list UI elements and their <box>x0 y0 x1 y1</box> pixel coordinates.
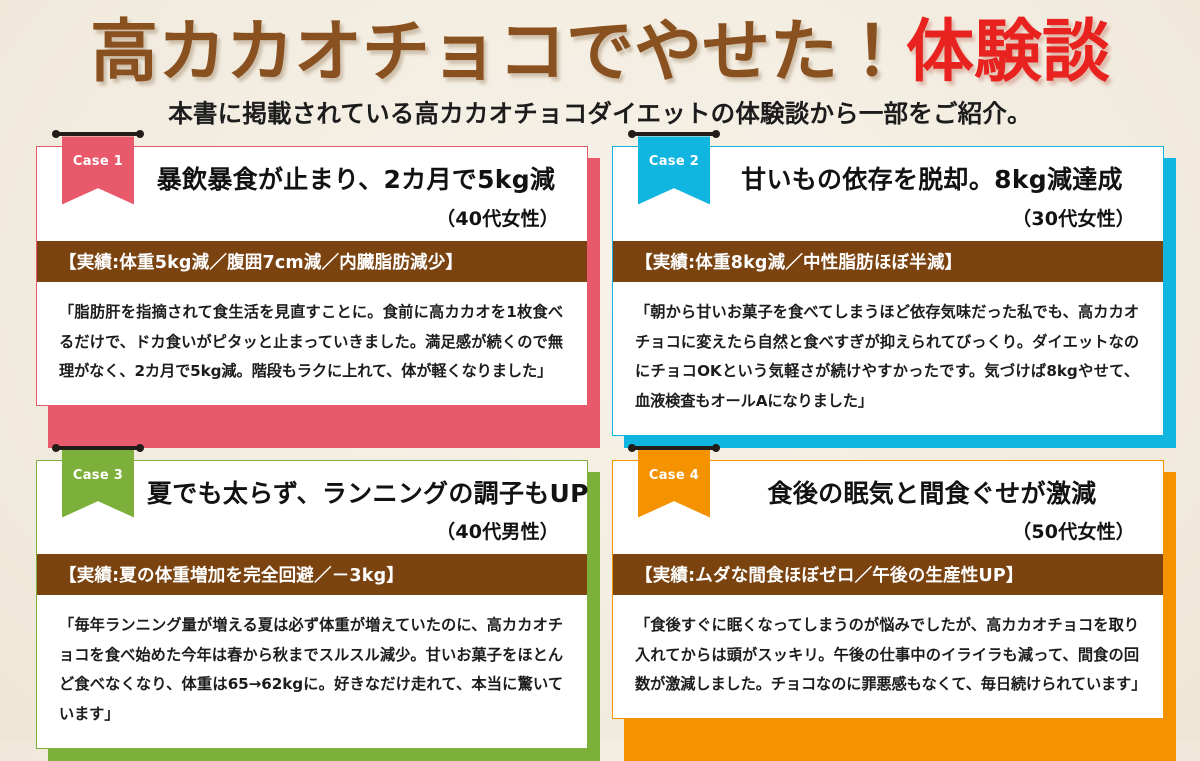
case-title: 暴飲暴食が止まり、2カ月で5kg減 <box>147 165 565 196</box>
card-body-2: 「朝から甘いお菓子を食べてしまうほど依存気味だった私でも、高カカオチョコに変えた… <box>613 282 1163 435</box>
case-person: （40代男性） <box>147 517 565 544</box>
ribbon-label: Case 3 <box>73 468 123 483</box>
ribbon-rod-icon <box>55 446 141 450</box>
ribbon-2: Case 2 <box>638 132 710 204</box>
ribbon-rod-icon <box>631 446 717 450</box>
ribbon-label: Case 1 <box>73 154 123 169</box>
achievement-bar: 【実績:体重8kg減／中性脂肪ほぼ半減】 <box>613 241 1163 282</box>
achievement-bar: 【実績:体重5kg減／腹囲7cm減／内臓脂肪減少】 <box>37 241 587 282</box>
ribbon-banner-icon: Case 4 <box>638 450 710 518</box>
case-card-2: Case 2 甘いもの依存を脱却。8kg減達成 （30代女性） 【実績:体重8k… <box>612 146 1164 435</box>
ribbon-4: Case 4 <box>638 446 710 518</box>
page-title-main: 高カカオチョコでやせた！ <box>90 13 906 92</box>
page-title: 高カカオチョコでやせた！体験談 <box>0 16 1200 89</box>
case-quote: 「毎年ランニング量が増える夏は必ず体重が増えていたのに、高カカオチョコを食べ始め… <box>59 611 563 730</box>
ribbon-banner-icon: Case 2 <box>638 136 710 204</box>
achievement-bar: 【実績:夏の体重増加を完全回避／－3kg】 <box>37 554 587 595</box>
ribbon-banner-icon: Case 3 <box>62 450 134 518</box>
page-subtitle: 本書に掲載されている高カカオチョコダイエットの体験談から一部をご紹介。 <box>0 95 1200 130</box>
ribbon-rod-icon <box>55 132 141 136</box>
case-card-3: Case 3 夏でも太らず、ランニングの調子もUP （40代男性） 【実績:夏の… <box>36 460 588 749</box>
case-quote: 「脂肪肝を指摘されて食生活を見直すことに。食前に高カカオを1枚食べるだけで、ドカ… <box>59 298 563 387</box>
case-card-4: Case 4 食後の眠気と間食ぐせが激減 （50代女性） 【実績:ムダな間食ほぼ… <box>612 460 1164 749</box>
ribbon-label: Case 4 <box>649 468 699 483</box>
card-body-4: 「食後すぐに眠くなってしまうのが悩みでしたが、高カカオチョコを取り入れてからは頭… <box>613 595 1163 718</box>
ribbon-label: Case 2 <box>649 154 699 169</box>
card-body-1: 「脂肪肝を指摘されて食生活を見直すことに。食前に高カカオを1枚食べるだけで、ドカ… <box>37 282 587 405</box>
case-title: 夏でも太らず、ランニングの調子もUP <box>147 479 565 510</box>
case-quote: 「食後すぐに眠くなってしまうのが悩みでしたが、高カカオチョコを取り入れてからは頭… <box>635 611 1139 700</box>
case-person: （50代女性） <box>723 517 1141 544</box>
ribbon-banner-icon: Case 1 <box>62 136 134 204</box>
ribbon-3: Case 3 <box>62 446 134 518</box>
case-card-1: Case 1 暴飲暴食が止まり、2カ月で5kg減 （40代女性） 【実績:体重5… <box>36 146 588 435</box>
case-grid: Case 1 暴飲暴食が止まり、2カ月で5kg減 （40代女性） 【実績:体重5… <box>36 146 1164 748</box>
case-person: （30代女性） <box>723 204 1141 231</box>
header: 高カカオチョコでやせた！体験談 本書に掲載されている高カカオチョコダイエットの体… <box>0 0 1200 130</box>
page-title-accent: 体験談 <box>906 13 1110 92</box>
infographic-page: 高カカオチョコでやせた！体験談 本書に掲載されている高カカオチョコダイエットの体… <box>0 0 1200 742</box>
case-quote: 「朝から甘いお菓子を食べてしまうほど依存気味だった私でも、高カカオチョコに変えた… <box>635 298 1139 417</box>
case-title: 食後の眠気と間食ぐせが激減 <box>723 479 1141 510</box>
ribbon-rod-icon <box>631 132 717 136</box>
ribbon-1: Case 1 <box>62 132 134 204</box>
achievement-bar: 【実績:ムダな間食ほぼゼロ／午後の生産性UP】 <box>613 554 1163 595</box>
case-title: 甘いもの依存を脱却。8kg減達成 <box>723 165 1141 196</box>
case-person: （40代女性） <box>147 204 565 231</box>
card-body-3: 「毎年ランニング量が増える夏は必ず体重が増えていたのに、高カカオチョコを食べ始め… <box>37 595 587 748</box>
